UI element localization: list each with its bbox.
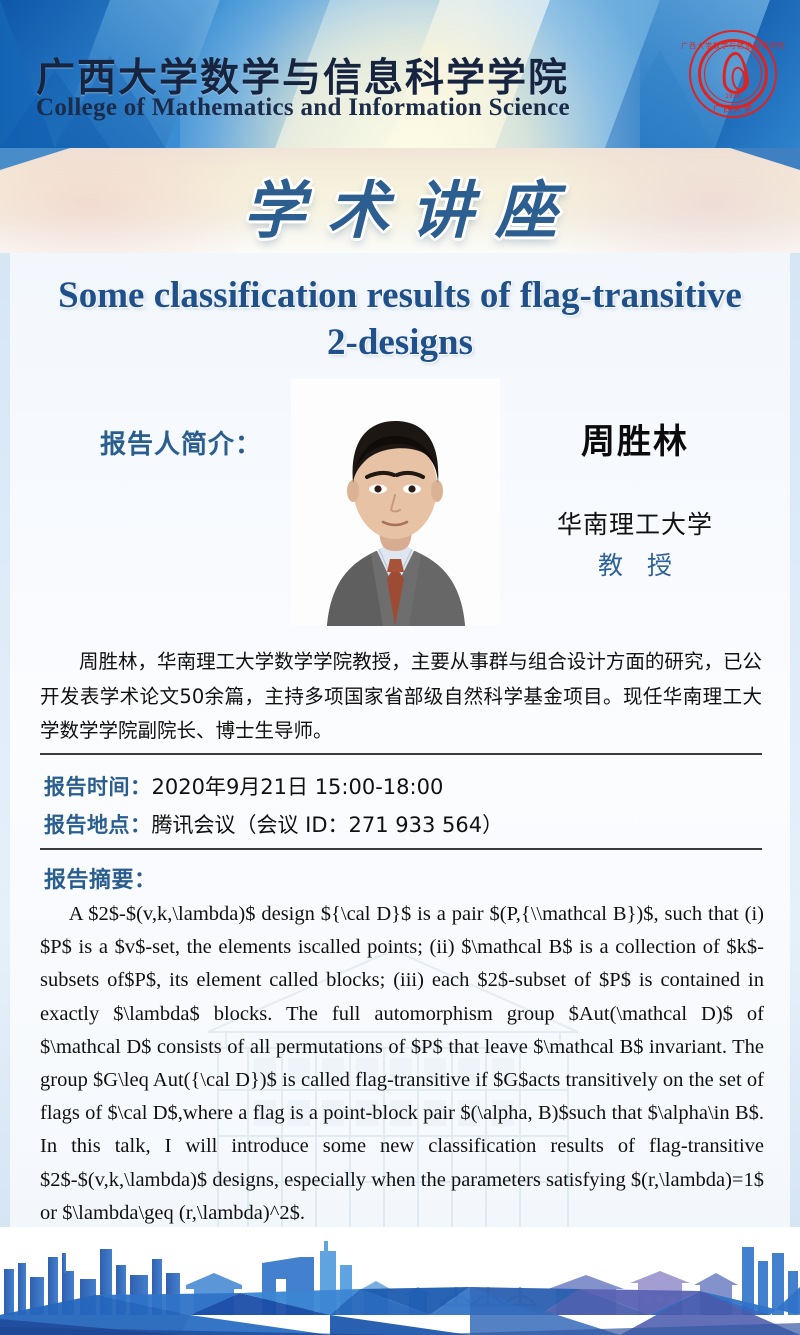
seal-year: 1928 [725, 94, 740, 100]
info-rule-bottom [40, 848, 762, 850]
seal-top-text: 广西大学数学与信息科学学院 [681, 41, 785, 51]
header-title-en: College of Mathematics and Information S… [36, 94, 570, 122]
talk-time-label: 报告时间： [44, 775, 152, 799]
talk-time-row: 报告时间：2020年9月21日 15:00-18:00 [44, 771, 443, 801]
lecture-banner: 学术讲座 [0, 148, 800, 253]
poster-header: 广西大学数学与信息科学学院 College of Mathematics and… [0, 0, 800, 148]
skyline-illustration [0, 1227, 800, 1335]
portrait-illustration [291, 379, 500, 626]
abstract-label: 报告摘要： [44, 862, 157, 894]
talk-place-row: 报告地点：腾讯会议（会议 ID：271 933 564） [44, 809, 503, 839]
speaker-portrait-photo [291, 379, 500, 626]
speaker-name: 周胜林 [520, 414, 750, 463]
talk-time-value: 2020年9月21日 15:00-18:00 [152, 775, 444, 799]
speaker-organization: 华南理工大学 [520, 505, 750, 541]
talk-place-label: 报告地点： [44, 813, 152, 837]
info-rule-top [40, 753, 762, 755]
banner-title: 学术讲座 [0, 160, 800, 250]
poster-root: 广西大学数学与信息科学学院 College of Mathematics and… [0, 0, 800, 1335]
speaker-bio: 周胜林，华南理工大学数学学院教授，主要从事群与组合设计方面的研究，已公开发表学术… [40, 645, 762, 749]
talk-place-value: 腾讯会议（会议 ID：271 933 564） [152, 813, 504, 837]
abstract-text: A $2$-$(v,k,\lambda)$ design ${\cal D}$ … [40, 898, 764, 1230]
speaker-section-label: 报告人简介： [100, 424, 262, 461]
talk-title: Some classification results of flag-tran… [40, 272, 760, 367]
speaker-rank: 教 授 [520, 546, 750, 582]
seal-bottom-text: 广西大学 [713, 102, 753, 115]
university-seal-icon: 广西大学数学与信息科学学院 1928 广西大学 [689, 30, 777, 118]
poster-footer-skyline [0, 1227, 800, 1335]
